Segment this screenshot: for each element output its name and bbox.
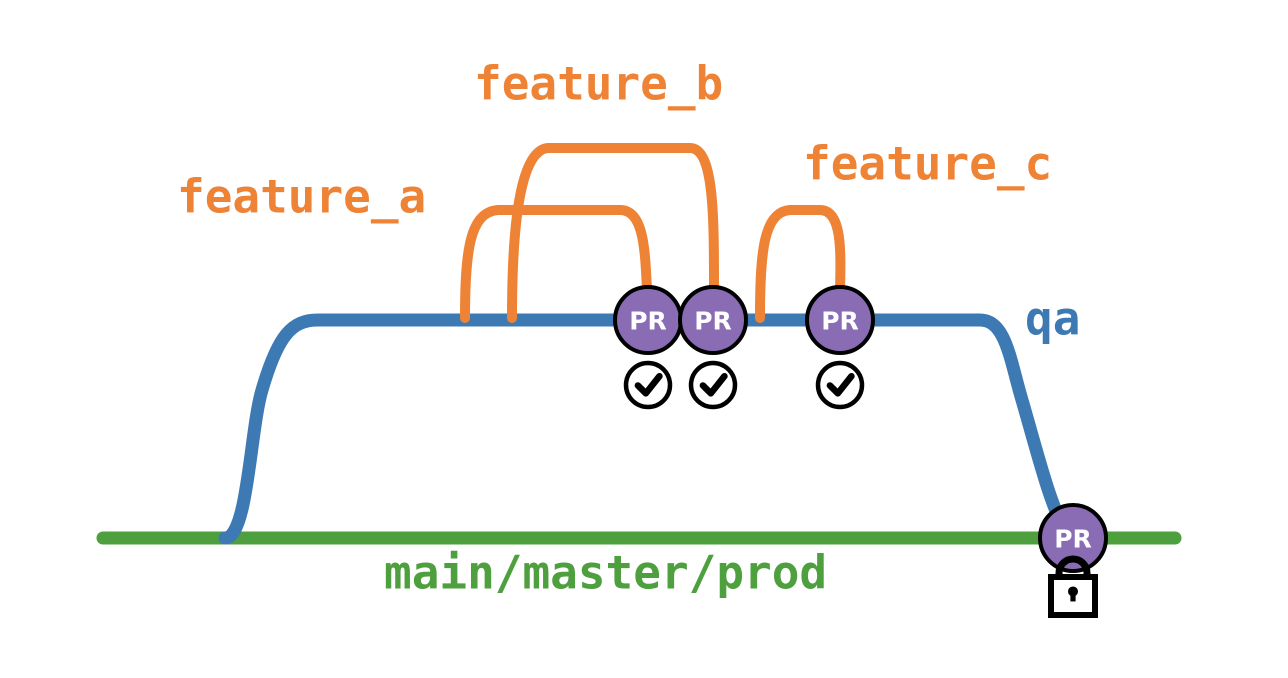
git-flow-canvas: PR PR PR PR: [0, 0, 1288, 678]
pr-node-4-label: PR: [1054, 525, 1092, 554]
label-feature-b: feature_b: [474, 57, 723, 111]
check-circle-icon-3[interactable]: [818, 363, 862, 407]
pr-node-2-label: PR: [694, 307, 732, 336]
branch-line-feature-b[interactable]: [512, 148, 714, 318]
pr-node-3-label: PR: [821, 307, 859, 336]
check-circle-icon-3-ring: [818, 363, 862, 407]
check-circle-icon-1[interactable]: [626, 363, 670, 407]
git-branching-diagram: PR PR PR PR: [0, 0, 1288, 678]
label-main-master-prod: main/master/prod: [384, 546, 827, 600]
pr-node-1[interactable]: PR: [615, 287, 681, 353]
label-feature-a: feature_a: [177, 170, 426, 224]
label-feature-c: feature_c: [803, 137, 1052, 191]
label-qa: qa: [1025, 292, 1080, 346]
check-circle-icon-1-ring: [626, 363, 670, 407]
check-circle-icon-2-ring: [691, 363, 735, 407]
pr-node-1-label: PR: [629, 307, 667, 336]
pr-node-2[interactable]: PR: [680, 287, 746, 353]
lock-icon-keyhole-stem: [1070, 591, 1075, 601]
pr-node-3[interactable]: PR: [807, 287, 873, 353]
check-circle-icon-2[interactable]: [691, 363, 735, 407]
